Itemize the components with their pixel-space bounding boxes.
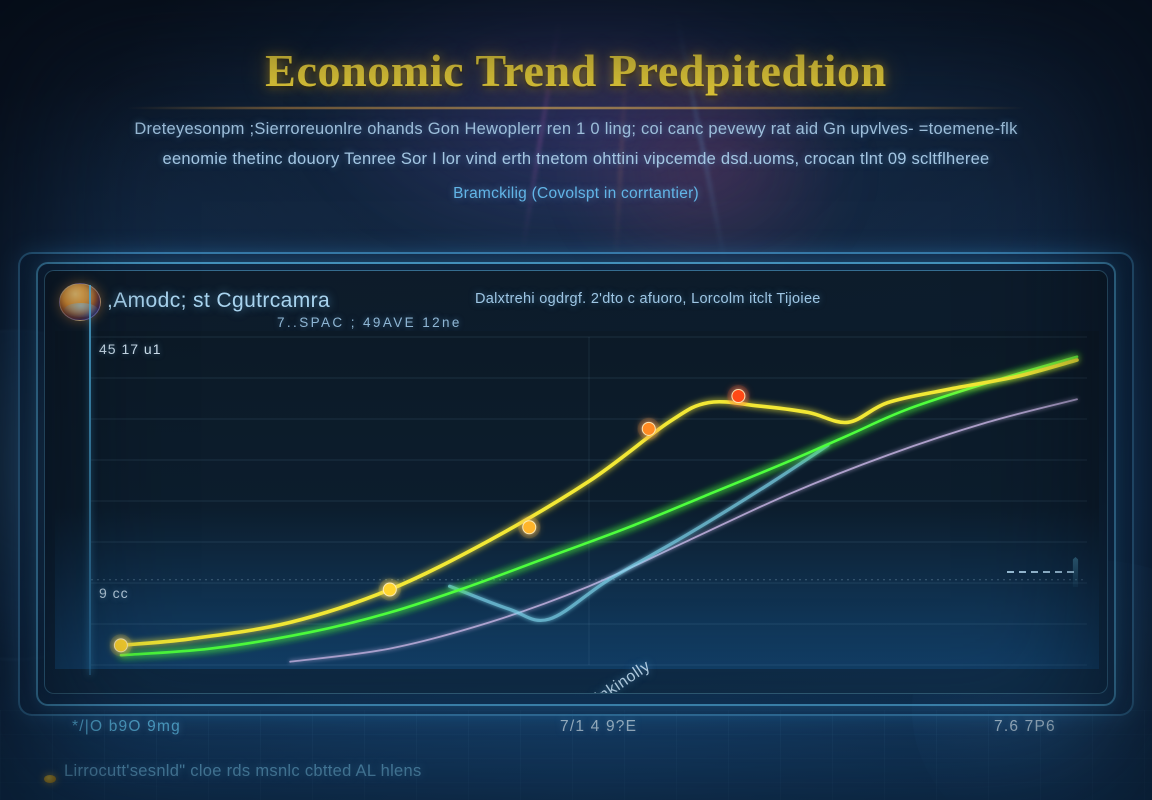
- data-point-markers: [110, 385, 750, 656]
- header: Economic Trend Predpitedtion Dreteyesonp…: [0, 44, 1152, 203]
- page-title: Economic Trend Predpitedtion: [0, 44, 1152, 97]
- hud-dashed-line: [1007, 571, 1079, 573]
- subtitle-line-3: Bramckilig (Covolspt in corrtantier): [0, 185, 1152, 203]
- chart-subheading: 7..SPAC ; 49AVE 12ne: [277, 315, 462, 330]
- page-caption: Lirrocutt'sesnld" cloe rds msnlc cbtted …: [64, 762, 422, 781]
- chart-meta-label: Dalxtrehi ogdrgf. 2'dto c afuoro, Lorcol…: [475, 291, 821, 307]
- y-axis-tick-label: 9 cc: [99, 585, 129, 601]
- x-axis-tick-label: 7/1 4 9?E: [560, 718, 637, 736]
- x-axis-tick-label: */|O b9O 9mg: [72, 718, 181, 736]
- plot-area: 45 17 u1 9 cc 00VXO vinkinolly C, ...880…: [55, 331, 1099, 669]
- grid-lines: [91, 337, 1087, 665]
- caption-bullet-icon: [44, 775, 56, 783]
- chart-panel: ,Amodc; st Cgutrcamra 7..SPAC ; 49AVE 12…: [44, 270, 1108, 694]
- chart-title: ,Amodc; st Cgutrcamra: [107, 289, 330, 313]
- title-divider: [126, 107, 1026, 109]
- x-axis-tick-label: 7.6 7P6: [994, 718, 1056, 736]
- sphere-logo-icon: [59, 283, 101, 321]
- x-axis-labels: */|O b9O 9mg 7/1 4 9?E 7.6 7P6: [44, 718, 1108, 748]
- subtitle-line-2: eenomie thetinc douory Tenree Sor I lor …: [0, 150, 1152, 169]
- y-axis-line: [89, 285, 91, 675]
- subtitle-line-1: Dreteyesonpm ;Sierroreuonlre ohands Gon …: [0, 120, 1152, 139]
- series-lines: [121, 357, 1077, 662]
- y-axis-tick-label: 45 17 u1: [99, 341, 162, 357]
- plot-svg: [55, 331, 1099, 669]
